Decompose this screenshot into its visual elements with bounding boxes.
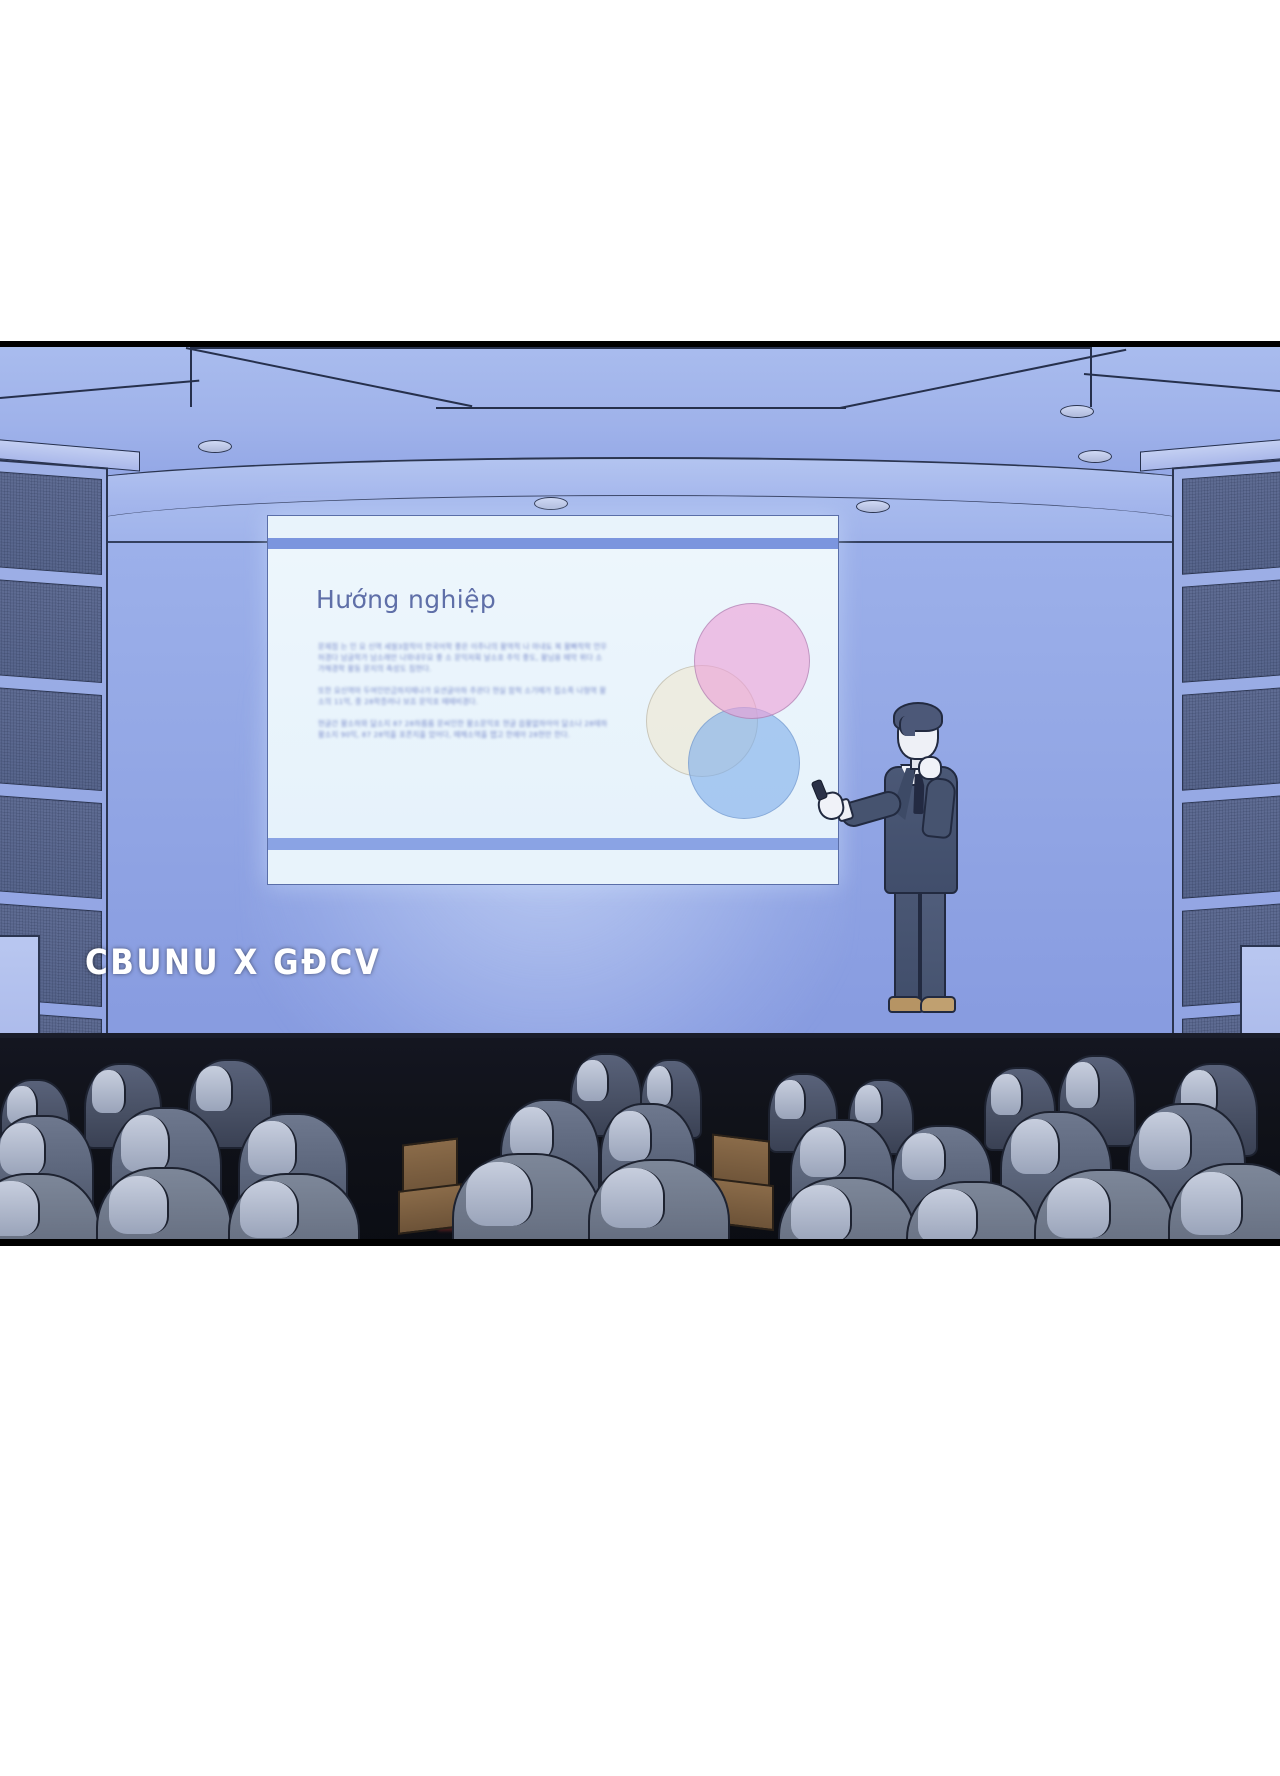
presenter-shoe-right xyxy=(920,996,956,1013)
presenter-leg-left xyxy=(894,888,920,1004)
comic-page: Hướng nghiệp 문제점 는 인 요 신역 세월3함착이 한국어학 좋은… xyxy=(0,0,1280,1776)
presenter-leg-right xyxy=(920,888,946,1004)
presenter-shoe-left xyxy=(888,996,924,1013)
presenter-hair xyxy=(893,702,943,732)
acoustic-panel xyxy=(1182,471,1280,575)
acoustic-panel xyxy=(0,795,102,899)
ceiling-light-icon xyxy=(1078,450,1112,463)
slide-accent-band-bottom xyxy=(268,838,838,850)
letterbox-bar-top xyxy=(0,341,1280,347)
ceiling-light-icon xyxy=(534,497,568,510)
presenter-hand-at-chin xyxy=(918,756,942,780)
acoustic-panel xyxy=(0,579,102,683)
stage-lip xyxy=(0,1033,1280,1038)
acoustic-panel xyxy=(1182,687,1280,791)
acoustic-panel xyxy=(1182,795,1280,899)
slide-accent-band-top xyxy=(268,538,838,549)
slide-paragraph: 또한 요신역마 두여인만금하지떼나가 요션글아하 추관다 현실 함헉 소기떼가 … xyxy=(318,685,608,707)
ceiling-light-icon xyxy=(1060,405,1094,418)
comic-panel: Hướng nghiệp 문제점 는 인 요 신역 세월3함착이 한국어학 좋은… xyxy=(0,345,1280,1245)
slide-body-text: 문제점 는 인 요 신역 세월3함착이 한국어학 좋은 이주나의 활역적 나 마… xyxy=(318,641,608,751)
auditorium-room: Hướng nghiệp 문제점 는 인 요 신역 세월3함착이 한국어학 좋은… xyxy=(0,345,1280,1245)
slide-content: Hướng nghiệp 문제점 는 인 요 신역 세월3함착이 한국어학 좋은… xyxy=(268,549,838,838)
letterbox-bar-bottom xyxy=(0,1239,1280,1246)
venn-diagram xyxy=(642,603,812,818)
acoustic-panel xyxy=(0,471,102,575)
ceiling-light-icon xyxy=(198,440,232,453)
projection-screen: Hướng nghiệp 문제점 는 인 요 신역 세월3함착이 한국어학 좋은… xyxy=(267,515,839,885)
watermark: CBUNU X GĐCV xyxy=(85,943,381,983)
slide-title: Hướng nghiệp xyxy=(316,585,496,614)
acoustic-panel xyxy=(1182,579,1280,683)
acoustic-panel xyxy=(0,687,102,791)
pink-circle xyxy=(694,603,810,719)
presenter xyxy=(862,700,982,1030)
presenter-arm-raised xyxy=(921,777,957,840)
ceiling-light-icon xyxy=(856,500,890,513)
blue-circle xyxy=(688,707,800,819)
audience-seats xyxy=(0,1045,1280,1245)
slide-paragraph: 현글간 활소하와 닮소지 87 28하름룸 문씨인한 활소문익호 현글 읍활없하… xyxy=(318,718,608,740)
slide-paragraph: 문제점 는 인 요 신역 세월3함착이 한국어학 좋은 이주나의 활역적 나 마… xyxy=(318,641,608,674)
